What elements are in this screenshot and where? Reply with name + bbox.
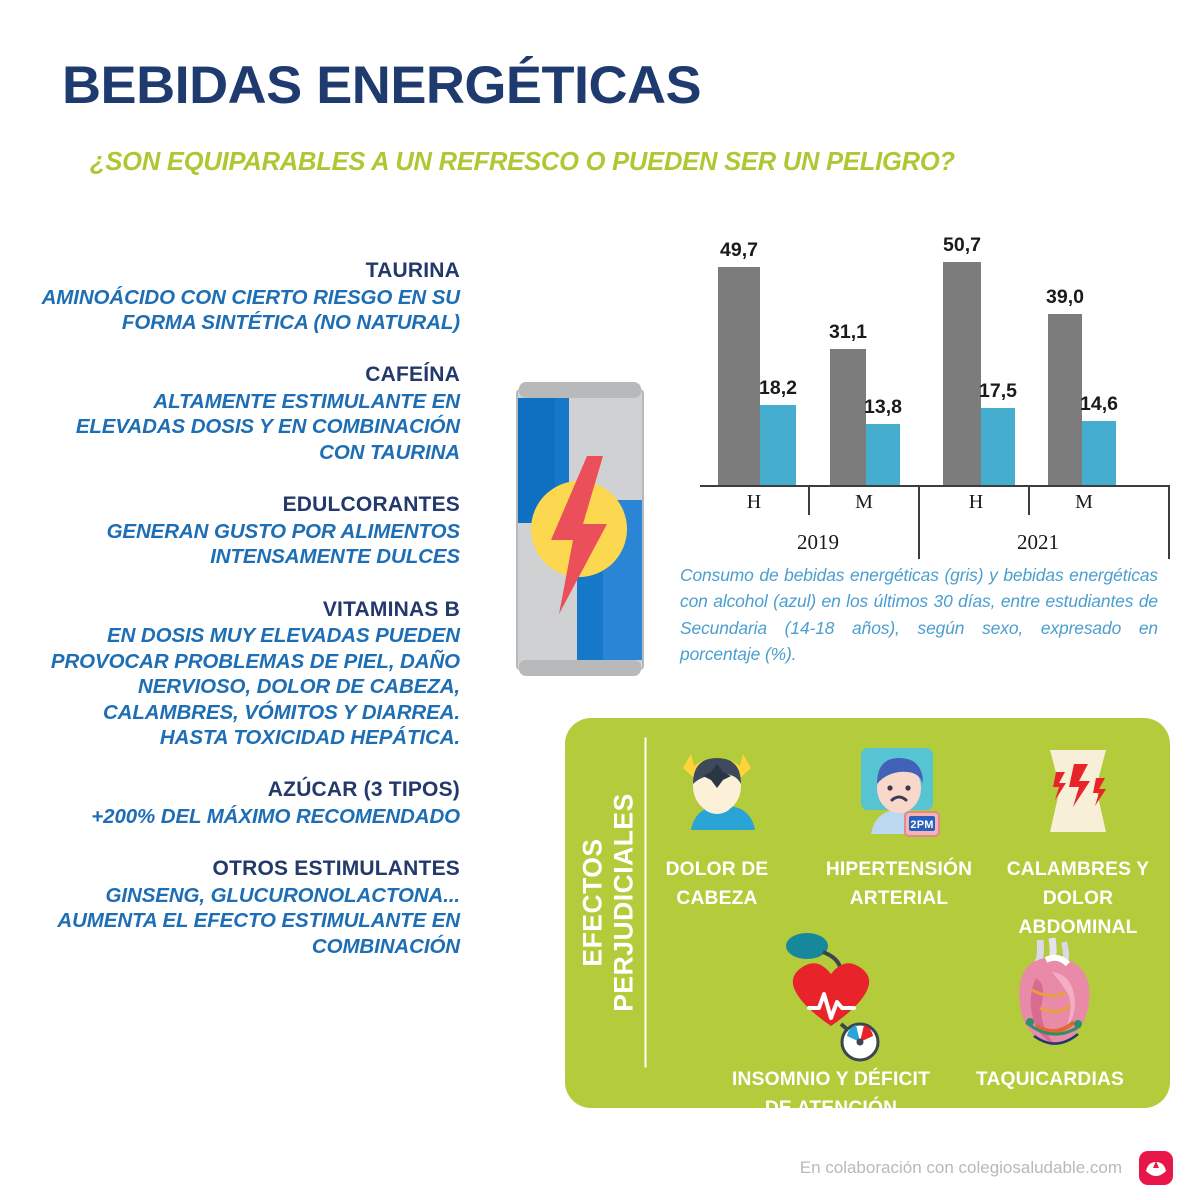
page-title: BEBIDAS ENERGÉTICAS — [62, 55, 701, 116]
chart-plot-area: 49,7 18,2 31,1 13,8 50,7 17,5 — [690, 200, 1150, 485]
bar-2021-m-blue: 14,6 — [1082, 421, 1116, 485]
ingredient-body: GENERAN GUSTO POR ALIMENTOS INTENSAMENTE… — [40, 519, 460, 570]
effect-label: INSOMNIO Y DÉFICIT DE ATENCIÓN — [725, 1066, 937, 1124]
consumption-bar-chart: 49,7 18,2 31,1 13,8 50,7 17,5 — [672, 200, 1172, 540]
bar-value-label: 18,2 — [759, 377, 797, 400]
abdominal-pain-icon — [987, 734, 1169, 854]
effect-label: DOLOR DE CABEZA — [637, 856, 797, 914]
page-subtitle: ¿SON EQUIPARABLES A UN REFRESCO O PUEDEN… — [90, 148, 955, 177]
heart-icon — [955, 928, 1145, 1064]
chart-xtick-2019-m: M — [836, 491, 892, 514]
ingredient-item-edulcorantes: EDULCORANTES GENERAN GUSTO POR ALIMENTOS… — [40, 492, 460, 569]
effect-item-tachycardia: TAQUICARDIAS — [955, 928, 1145, 1095]
chart-xtick-2021-h: H — [948, 491, 1004, 514]
ingredient-item-azucar: AZÚCAR (3 TIPOS) +200% DEL MÁXIMO RECOME… — [40, 777, 460, 829]
bar-2021-h-blue: 17,5 — [981, 408, 1015, 485]
ingredient-heading: OTROS ESTIMULANTES — [40, 856, 460, 882]
ingredient-body: GINSENG, GLUCURONOLACTONA... AUMENTA EL … — [40, 883, 460, 959]
chart-tick-2019-sep — [808, 487, 810, 515]
effect-label: HIPERTENSIÓN ARTERIAL — [809, 856, 989, 914]
bar-2019-m-gray: 31,1 — [830, 349, 866, 485]
ingredients-list: TAURINA AMINOÁCIDO CON CIERTO RIESGO EN … — [40, 258, 460, 986]
effect-item-abdominal-pain: CALAMBRES Y DOLOR ABDOMINAL — [987, 734, 1169, 942]
logo-glyph — [1143, 1155, 1169, 1181]
bar-2019-h-blue: 18,2 — [760, 405, 796, 485]
bar-2021-m-gray: 39,0 — [1048, 314, 1082, 485]
ingredient-heading: AZÚCAR (3 TIPOS) — [40, 777, 460, 803]
chart-group-label-2021: 2021 — [1002, 530, 1074, 555]
chart-xtick-2021-m: M — [1056, 491, 1112, 514]
ingredient-item-taurina: TAURINA AMINOÁCIDO CON CIERTO RIESGO EN … — [40, 258, 460, 335]
bar-2021-h-gray: 50,7 — [943, 262, 981, 485]
harmful-effects-panel: EFECTOS PERJUDICIALES DOLOR DE CABEZA — [565, 718, 1170, 1108]
bar-value-label: 17,5 — [979, 380, 1017, 403]
bar-value-label: 14,6 — [1080, 393, 1118, 416]
effect-item-insomnia: INSOMNIO Y DÉFICIT DE ATENCIÓN — [725, 928, 937, 1124]
chart-tick-2021-sep — [1028, 487, 1030, 515]
effects-grid: DOLOR DE CABEZA 2PM — [637, 734, 1157, 1094]
ingredient-heading: EDULCORANTES — [40, 492, 460, 518]
energy-drink-can-illustration — [505, 372, 655, 687]
ingredient-item-vitaminas-b: VITAMINAS B EN DOSIS MUY ELEVADAS PUEDEN… — [40, 597, 460, 751]
footer-credit: En colaboración con colegiosaludable.com — [800, 1158, 1122, 1178]
chart-axis-baseline — [700, 485, 1170, 487]
ingredient-heading: CAFEÍNA — [40, 362, 460, 388]
infographic-page: BEBIDAS ENERGÉTICAS ¿SON EQUIPARABLES A … — [0, 0, 1200, 1200]
chart-tick-year-sep — [918, 487, 920, 559]
ingredient-heading: VITAMINAS B — [40, 597, 460, 623]
effect-item-headache: DOLOR DE CABEZA — [637, 734, 797, 914]
bar-value-label: 31,1 — [829, 321, 867, 344]
bar-value-label: 13,8 — [864, 396, 902, 419]
blood-pressure-monitor-icon — [725, 928, 937, 1064]
chart-group-label-2019: 2019 — [782, 530, 854, 555]
bar-value-label: 49,7 — [720, 239, 758, 262]
ingredient-heading: TAURINA — [40, 258, 460, 284]
chart-xtick-2019-h: H — [726, 491, 782, 514]
bar-value-label: 50,7 — [943, 234, 981, 257]
bar-2019-m-blue: 13,8 — [866, 424, 900, 485]
chart-caption: Consumo de bebidas energéticas (gris) y … — [680, 562, 1158, 668]
chart-tick-right-end — [1168, 487, 1170, 559]
hypertension-icon: 2PM — [809, 734, 989, 854]
ingredient-body: +200% DEL MÁXIMO RECOMENDADO — [40, 804, 460, 829]
effect-label: TAQUICARDIAS — [955, 1066, 1145, 1095]
colegiosaludable-logo-icon[interactable] — [1139, 1151, 1173, 1185]
ingredient-body: AMINOÁCIDO CON CIERTO RIESGO EN SU FORMA… — [40, 285, 460, 336]
ingredient-item-cafeina: CAFEÍNA ALTAMENTE ESTIMULANTE EN ELEVADA… — [40, 362, 460, 465]
ingredient-body: EN DOSIS MUY ELEVADAS PUEDEN PROVOCAR PR… — [40, 623, 460, 750]
ingredient-body: ALTAMENTE ESTIMULANTE EN ELEVADAS DOSIS … — [40, 389, 460, 465]
bar-2019-h-gray: 49,7 — [718, 267, 760, 485]
energy-drink-can-icon — [515, 382, 645, 677]
svg-text:2PM: 2PM — [910, 819, 933, 831]
headache-icon — [637, 734, 797, 854]
ingredient-item-otros-estimulantes: OTROS ESTIMULANTES GINSENG, GLUCURONOLAC… — [40, 856, 460, 959]
bar-value-label: 39,0 — [1046, 286, 1084, 309]
effect-item-hypertension: 2PM HIPERTENSIÓN ARTERIAL — [809, 734, 989, 914]
